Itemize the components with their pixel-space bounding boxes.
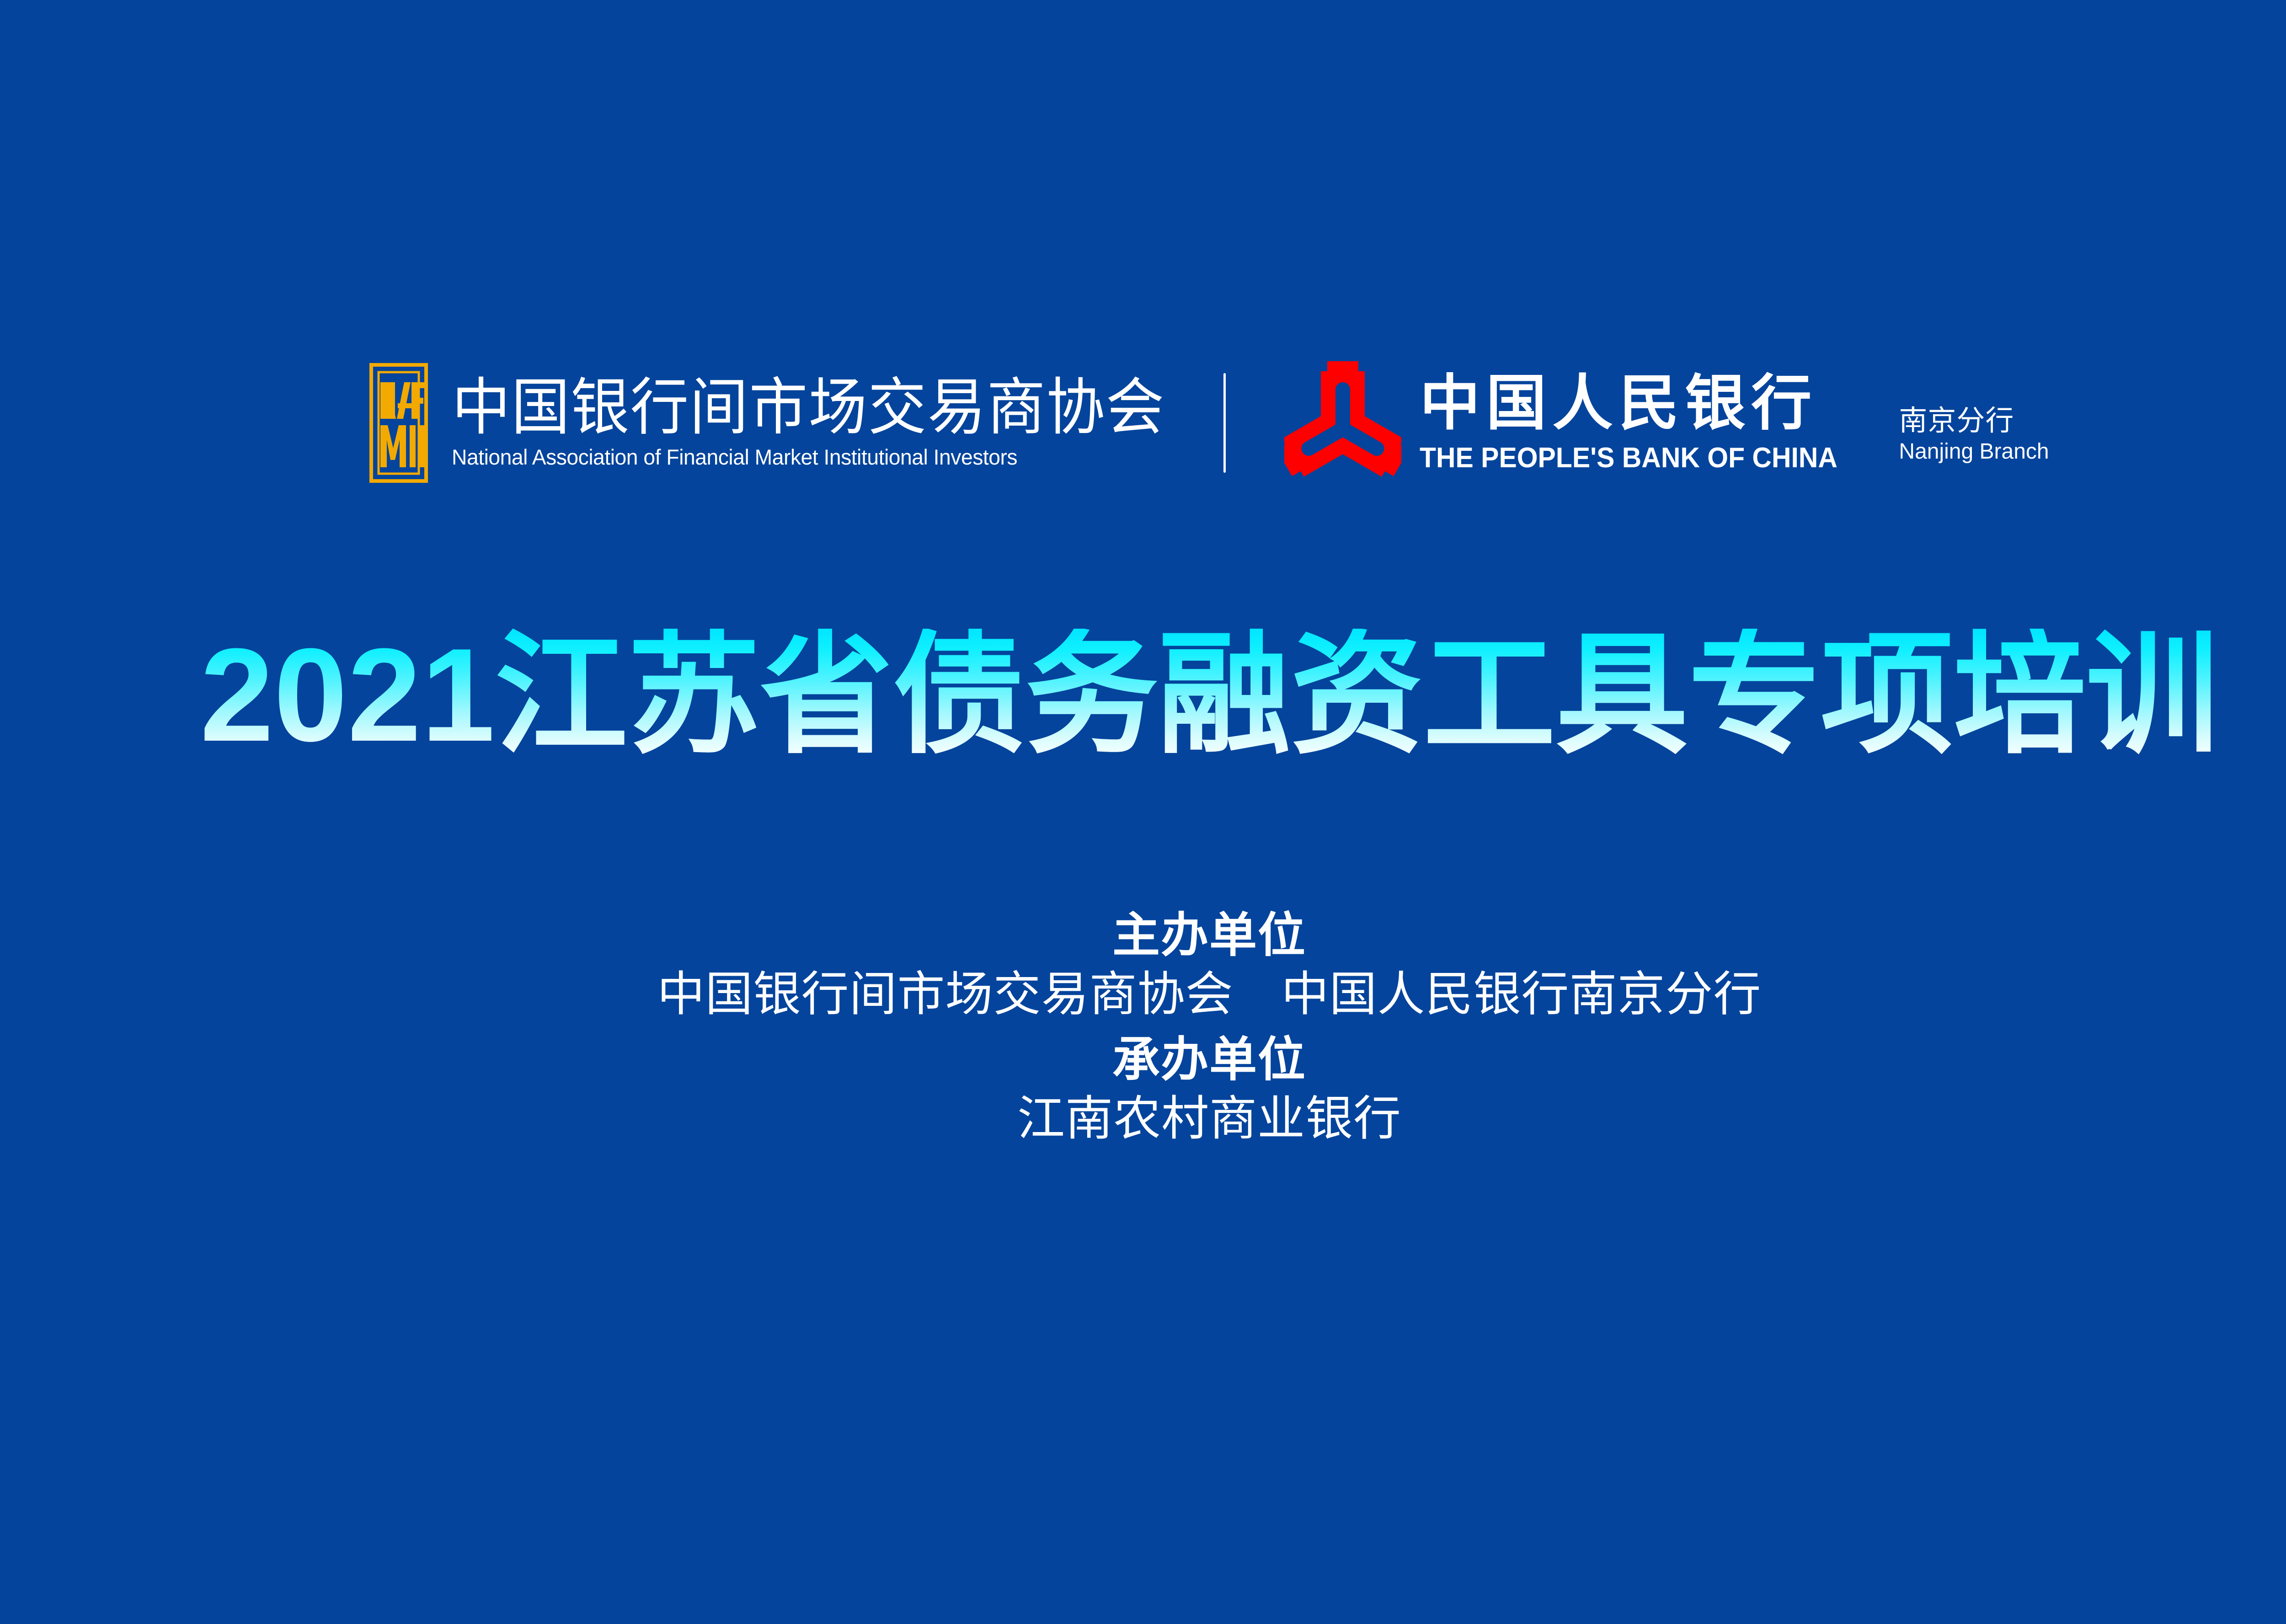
organizer-names: 江南农村商业银行 — [0, 1088, 2286, 1150]
nafmii-mark-icon — [369, 363, 428, 483]
pboc-name-block: 中国人民银行 THE PEOPLE'S BANK OF CHINA — [1420, 374, 1859, 472]
host-names: 中国银行间市场交易商协会 中国人民银行南京分行 — [0, 964, 2286, 1026]
pboc-emblem-icon — [1284, 357, 1401, 489]
nafmii-logo: 中国银行间市场交易商协会 National Association of Fin… — [369, 363, 1165, 483]
pboc-branch-en: Nanjing Branch — [1899, 441, 2049, 463]
organizer-block: 主办单位 中国银行间市场交易商协会 中国人民银行南京分行 承办单位 江南农村商业… — [0, 908, 2286, 1150]
page-title: 2021江苏省债务融资工具专项培训 — [0, 629, 2286, 761]
pboc-branch-cn: 南京分行 — [1899, 406, 2049, 436]
pboc-logo: 中国人民银行 THE PEOPLE'S BANK OF CHINA 南京分行 N… — [1284, 357, 2049, 489]
logo-row: 中国银行间市场交易商协会 National Association of Fin… — [0, 336, 2286, 510]
organizer-label: 承办单位 — [0, 1032, 2286, 1088]
pboc-name-en: THE PEOPLE'S BANK OF CHINA — [1420, 444, 1837, 472]
pboc-name-cn: 中国人民银行 — [1420, 374, 1859, 434]
poster-canvas: 中国银行间市场交易商协会 National Association of Fin… — [0, 0, 2286, 1624]
logo-divider — [1223, 373, 1226, 473]
nafmii-name-cn: 中国银行间市场交易商协会 — [452, 377, 1165, 439]
host-label: 主办单位 — [0, 908, 2286, 964]
nafmii-name-block: 中国银行间市场交易商协会 National Association of Fin… — [452, 379, 1165, 468]
pboc-branch-block: 南京分行 Nanjing Branch — [1899, 406, 2049, 465]
nafmii-name-en: National Association of Financial Market… — [452, 446, 1154, 468]
